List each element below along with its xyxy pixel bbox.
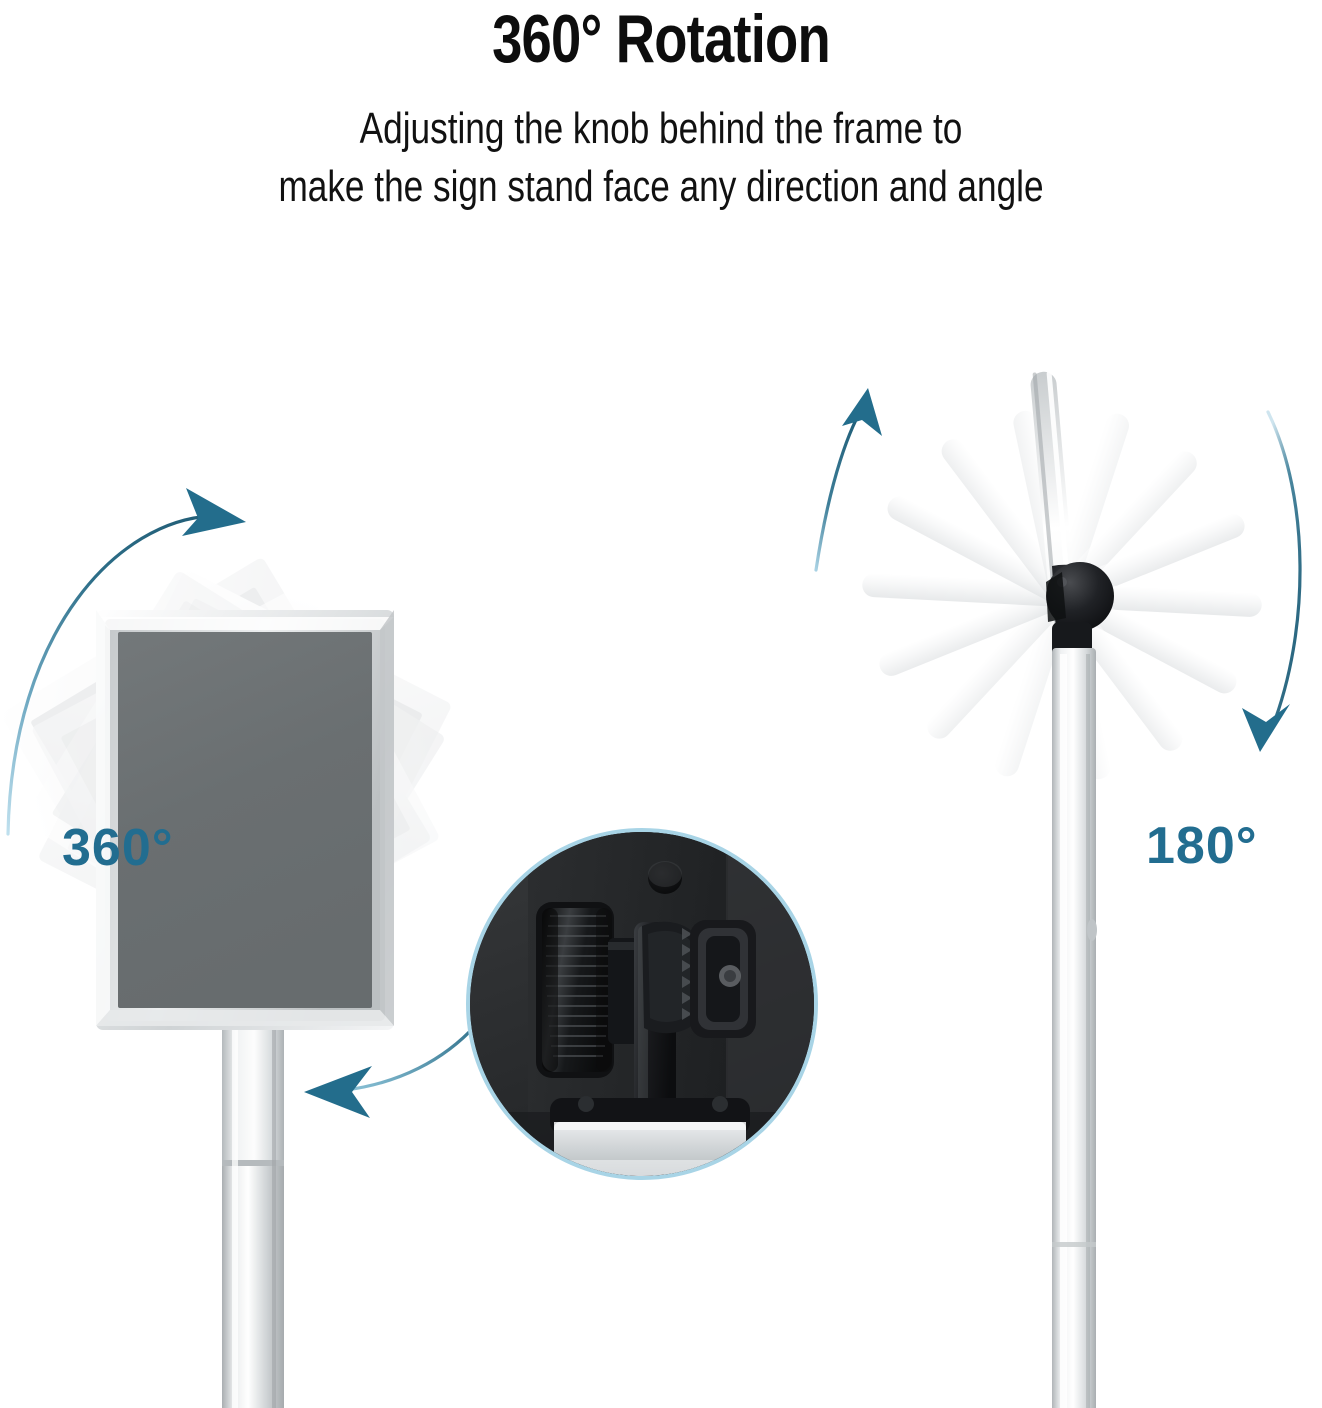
label-180-degrees: 180° bbox=[1146, 816, 1258, 876]
knob-closeup-inset bbox=[466, 828, 818, 1180]
arc-arrowhead-down bbox=[1242, 704, 1290, 752]
subtitle-line-2: make the sign stand face any direction a… bbox=[132, 158, 1190, 216]
page-title: 360° Rotation bbox=[132, 2, 1190, 76]
pivot-bracket bbox=[690, 920, 756, 1038]
page-subtitle: Adjusting the knob behind the frame to m… bbox=[132, 100, 1190, 216]
right-pole bbox=[1052, 648, 1097, 1408]
arc-arrowhead-bottom bbox=[304, 1066, 372, 1118]
header: 360° Rotation Adjusting the knob behind … bbox=[0, 0, 1322, 230]
knob-closeup-photo bbox=[468, 830, 818, 1180]
subtitle-line-1: Adjusting the knob behind the frame to bbox=[132, 100, 1190, 158]
height-adjust-button bbox=[1087, 919, 1097, 941]
arc-arrowhead-up bbox=[842, 388, 882, 436]
label-360-degrees: 360° bbox=[62, 818, 174, 878]
arc-arrowhead-top bbox=[182, 488, 246, 536]
pole-mount bbox=[550, 1096, 750, 1180]
